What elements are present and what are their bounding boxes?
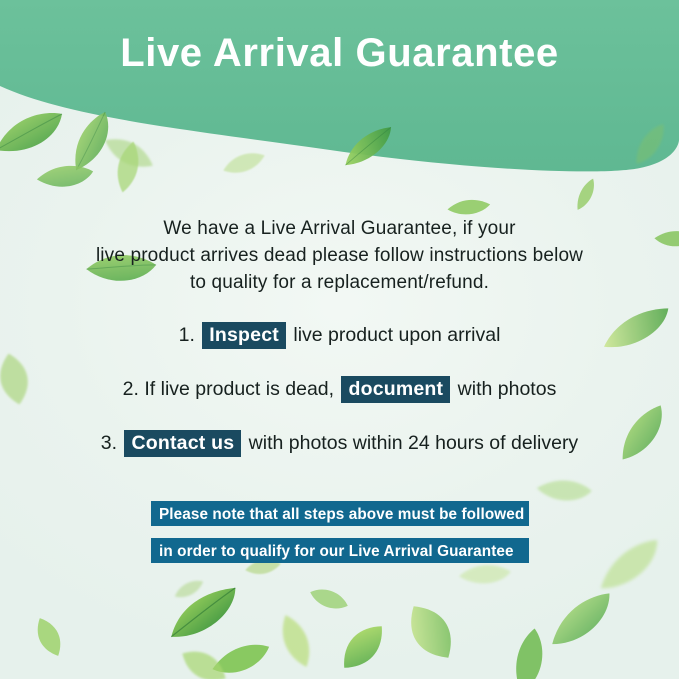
step-text-after: with photos within 24 hours of delivery [249, 432, 579, 454]
note-line-2: in order to qualify for our Live Arrival… [151, 538, 529, 563]
step-highlight-inspect: Inspect [202, 322, 286, 349]
footer-notes: Please note that all steps above must be… [151, 501, 529, 563]
step-number: 2. [123, 378, 139, 400]
step-item-3: 3. Contact us with photos within 24 hour… [30, 430, 649, 457]
live-arrival-guarantee-poster: Live Arrival Guarantee [0, 0, 679, 679]
step-number: 3. [101, 432, 117, 454]
step-text-after: live product upon arrival [293, 324, 500, 346]
step-highlight-document: document [341, 376, 450, 403]
step-item-2: 2. If live product is dead, document wit… [30, 376, 649, 403]
step-number: 1. [179, 324, 195, 346]
step-highlight-contact-us: Contact us [124, 430, 241, 457]
intro-paragraph: We have a Live Arrival Guarantee, if you… [60, 215, 619, 296]
step-text-after: with photos [458, 378, 557, 400]
intro-line-2: live product arrives dead please follow … [60, 242, 619, 269]
intro-line-3: to quality for a replacement/refund. [60, 269, 619, 296]
step-text-before: If live product is dead, [144, 378, 334, 400]
intro-line-1: We have a Live Arrival Guarantee, if you… [60, 215, 619, 242]
steps-list: 1. Inspect live product upon arrival 2. … [30, 322, 649, 484]
step-item-1: 1. Inspect live product upon arrival [30, 322, 649, 349]
poster-content: We have a Live Arrival Guarantee, if you… [0, 0, 679, 679]
note-line-1: Please note that all steps above must be… [151, 501, 529, 526]
